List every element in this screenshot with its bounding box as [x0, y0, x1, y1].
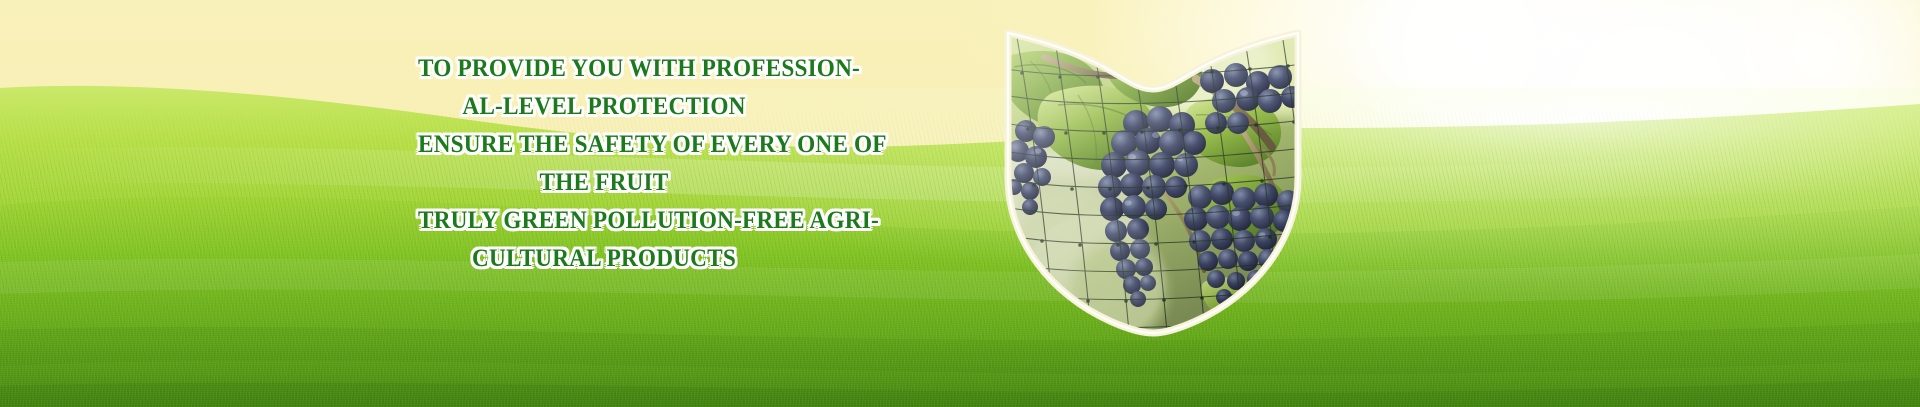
- shield-grapes-emblem: [1000, 27, 1306, 337]
- headline-line-5: TRULY GREEN POLLUTION-FREE AGRI-: [418, 202, 790, 240]
- headline-line-1: TO PROVIDE YOU WITH PROFESSION-: [418, 50, 790, 88]
- headline-line-3: ENSURE THE SAFETY OF EVERY ONE OF: [418, 126, 790, 164]
- grass-field: [0, 0, 1920, 407]
- headline-text-block: TO PROVIDE YOU WITH PROFESSION- AL-LEVEL…: [404, 50, 804, 278]
- shield-graphic: [1000, 27, 1306, 337]
- headline-line-4: THE FRUIT: [418, 164, 790, 202]
- headline-line-2: AL-LEVEL PROTECTION: [418, 88, 790, 126]
- shield-photo: [1000, 27, 1306, 337]
- promo-banner: TO PROVIDE YOU WITH PROFESSION- AL-LEVEL…: [0, 0, 1920, 407]
- grass-hills-graphic: [0, 0, 1920, 407]
- headline-line-6: CULTURAL PRODUCTS: [418, 240, 790, 278]
